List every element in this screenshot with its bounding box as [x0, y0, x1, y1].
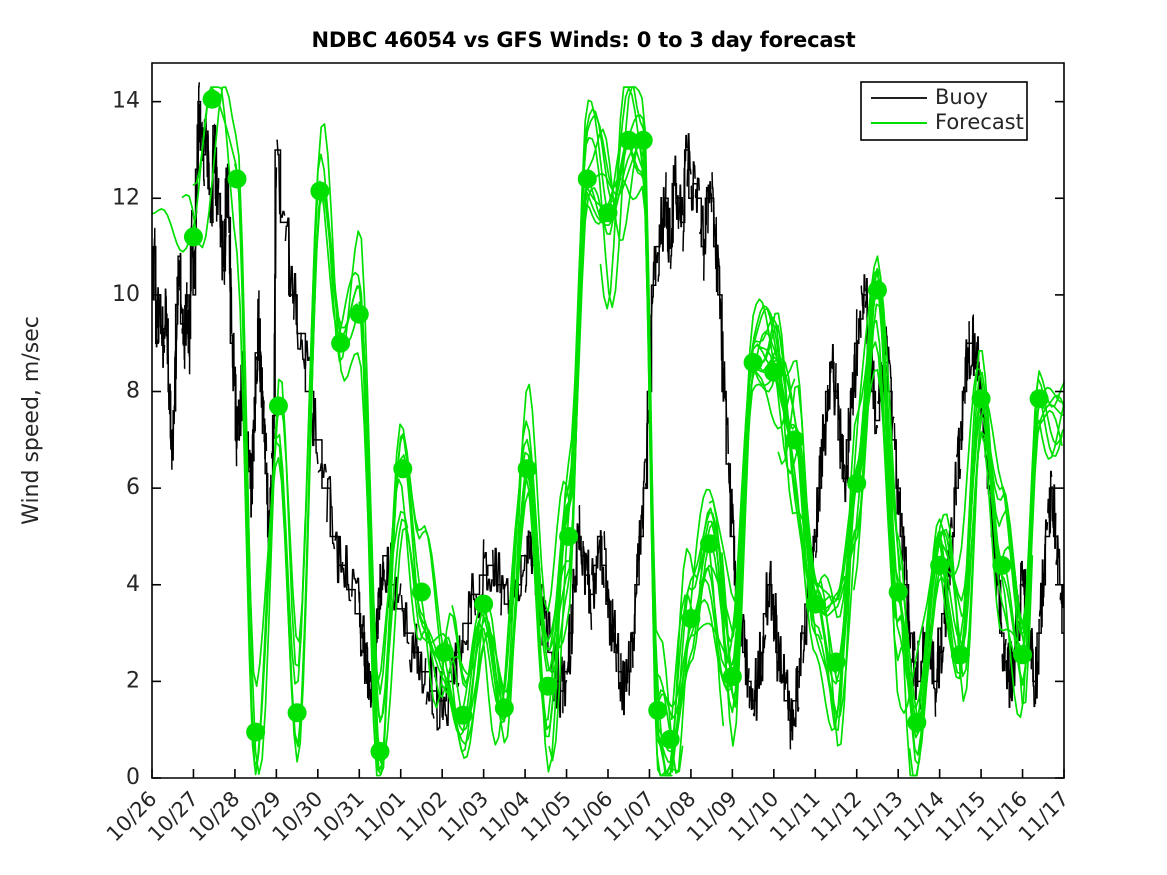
- buoy-line-segment: [382, 563, 384, 590]
- buoy-line-segment: [379, 565, 381, 620]
- buoy-line-segment: [678, 185, 682, 226]
- buoy-line-segment: [591, 559, 595, 608]
- buoy-line-segment: [157, 288, 159, 342]
- buoy-line-segment: [254, 357, 256, 432]
- buoy-line-segment: [853, 309, 857, 415]
- buoy-line-segment: [641, 459, 645, 528]
- forecast-daily-marker: [495, 698, 514, 717]
- buoy-line-segment: [234, 373, 236, 466]
- forecast-daily-marker: [827, 653, 846, 672]
- forecast-daily-marker: [269, 397, 288, 416]
- buoy-line-segment: [757, 633, 761, 688]
- forecast-daily-marker: [889, 583, 908, 602]
- y-tick-label: 0: [126, 765, 140, 790]
- y-tick-label: 12: [112, 185, 140, 210]
- forecast-daily-marker: [847, 474, 866, 493]
- buoy-line-segment: [658, 198, 662, 281]
- buoy-line-segment: [766, 572, 770, 624]
- buoy-line-segment: [1039, 560, 1043, 627]
- buoy-line-segment: [237, 400, 239, 448]
- buoy-line-segment: [367, 643, 369, 700]
- buoy-line-segment: [256, 290, 258, 383]
- buoy-line-segment: [761, 635, 765, 681]
- buoy-line-segment: [301, 340, 309, 368]
- x-axis-ticks: 10/2610/2710/2810/2910/3010/3111/0111/02…: [102, 769, 1074, 846]
- buoy-line-segment: [861, 275, 865, 313]
- forecast-daily-marker: [951, 645, 970, 664]
- buoy-line-segment: [401, 596, 409, 644]
- buoy-line-segment: [612, 600, 616, 672]
- buoy-line-segment: [931, 640, 935, 717]
- buoy-line-segment: [179, 254, 181, 313]
- buoy-line-segment: [164, 289, 166, 338]
- buoy-line-segment: [633, 554, 637, 650]
- buoy-line-segment: [770, 562, 774, 642]
- buoy-line-segment: [562, 661, 566, 712]
- buoy-line-segment: [587, 550, 591, 630]
- forecast-daily-marker: [518, 459, 537, 478]
- forecast-daily-marker: [1030, 389, 1049, 408]
- forecast-daily-marker: [203, 90, 222, 109]
- buoy-line-segment: [707, 182, 711, 233]
- buoy-line-segment: [815, 456, 819, 558]
- forecast-daily-marker: [227, 169, 246, 188]
- figure-container: NDBC 46054 vs GFS Winds: 0 to 3 day fore…: [0, 0, 1167, 875]
- buoy-line-segment: [364, 632, 366, 683]
- y-tick-label: 2: [126, 668, 140, 693]
- buoy-line-segment: [969, 317, 973, 379]
- y-axis-label: Wind speed, m/sec: [19, 316, 44, 525]
- buoy-line-segment: [583, 547, 587, 594]
- buoy-line-segment: [232, 334, 234, 391]
- y-tick-label: 6: [126, 475, 140, 500]
- forecast-daily-marker: [806, 595, 825, 614]
- buoy-line-segment: [662, 172, 666, 251]
- buoy-line-segment: [973, 315, 977, 375]
- buoy-line-segment: [749, 687, 753, 709]
- forecast-daily-marker: [907, 713, 926, 732]
- chart-legend[interactable]: BuoyForecast: [861, 82, 1027, 140]
- buoy-line-segment: [1052, 485, 1056, 548]
- y-tick-label: 8: [126, 379, 140, 404]
- buoy-line-segment: [795, 667, 799, 727]
- buoy-line-segment: [417, 647, 425, 693]
- buoy-line-segment: [600, 531, 604, 588]
- buoy-line-segment: [261, 368, 263, 433]
- forecast-daily-marker: [184, 227, 203, 246]
- forecast-daily-marker: [578, 169, 597, 188]
- y-tick-label: 10: [112, 282, 140, 307]
- buoy-line-segment: [492, 548, 500, 593]
- buoy-line-segment: [674, 156, 678, 228]
- buoy-line-segment: [819, 415, 823, 511]
- forecast-daily-marker: [785, 430, 804, 449]
- buoy-line-segment: [935, 628, 939, 702]
- buoy-line-segment: [217, 168, 219, 215]
- buoy-line-segment: [1035, 619, 1039, 704]
- forecast-daily-marker: [930, 556, 949, 575]
- buoy-line-segment: [318, 464, 326, 477]
- page-title: NDBC 46054 vs GFS Winds: 0 to 3 day fore…: [0, 28, 1167, 52]
- y-axis-label-text: Wind speed, m/sec: [19, 316, 44, 525]
- forecast-daily-marker: [648, 701, 667, 720]
- buoy-line-segment: [249, 451, 251, 517]
- buoy-line-segment: [691, 162, 695, 210]
- forecast-daily-marker: [992, 556, 1011, 575]
- forecast-daily-marker: [412, 583, 431, 602]
- buoy-line-segment: [832, 345, 836, 415]
- buoy-line-segment: [169, 384, 171, 469]
- forecast-daily-marker: [700, 534, 719, 553]
- forecast-daily-marker: [288, 703, 307, 722]
- forecast-daily-marker: [868, 281, 887, 300]
- forecast-daily-marker: [331, 334, 350, 353]
- forecast-daily-marker: [435, 643, 454, 662]
- forecast-daily-marker: [1013, 645, 1032, 664]
- forecast-daily-marker: [246, 723, 265, 742]
- forecast-daily-marker: [559, 527, 578, 546]
- buoy-line-segment: [343, 546, 351, 601]
- buoy-line-segment: [753, 659, 757, 720]
- forecast-series-layer: [152, 87, 1064, 775]
- forecast-daily-marker: [764, 363, 783, 382]
- buoy-line-segment: [712, 173, 716, 269]
- y-tick-label: 4: [126, 572, 140, 597]
- forecast-daily-marker: [661, 730, 680, 749]
- buoy-line-segment: [1031, 629, 1035, 706]
- forecast-daily-marker: [634, 131, 653, 150]
- legend-label: Buoy: [935, 85, 988, 109]
- buoy-line-segment: [745, 639, 749, 697]
- buoy-line-segment: [264, 419, 266, 458]
- buoy-line-segment: [604, 532, 608, 618]
- buoy-line-segment: [620, 654, 624, 715]
- buoy-line-segment: [608, 590, 612, 651]
- legend-label: Forecast: [935, 110, 1024, 134]
- forecast-daily-marker: [474, 595, 493, 614]
- forecast-daily-marker: [371, 742, 390, 761]
- forecast-daily-marker: [599, 203, 618, 222]
- buoy-line-segment: [782, 655, 786, 689]
- forecast-daily-marker: [681, 609, 700, 628]
- buoy-line-segment: [251, 421, 253, 504]
- chart-canvas: 02468101214 10/2610/2710/2810/2910/3010/…: [0, 0, 1167, 875]
- forecast-daily-marker: [744, 353, 763, 372]
- forecast-daily-marker: [723, 667, 742, 686]
- forecast-daily-marker: [310, 182, 329, 201]
- forecast-daily-marker: [453, 706, 472, 725]
- forecast-daily-marker: [538, 677, 557, 696]
- forecast-trace: [530, 141, 653, 650]
- y-tick-label: 14: [112, 89, 140, 114]
- buoy-line-segment: [716, 218, 720, 320]
- buoy-line-segment: [965, 340, 969, 403]
- forecast-daily-marker: [393, 459, 412, 478]
- forecast-daily-marker: [350, 305, 369, 324]
- forecast-daily-marker: [972, 389, 991, 408]
